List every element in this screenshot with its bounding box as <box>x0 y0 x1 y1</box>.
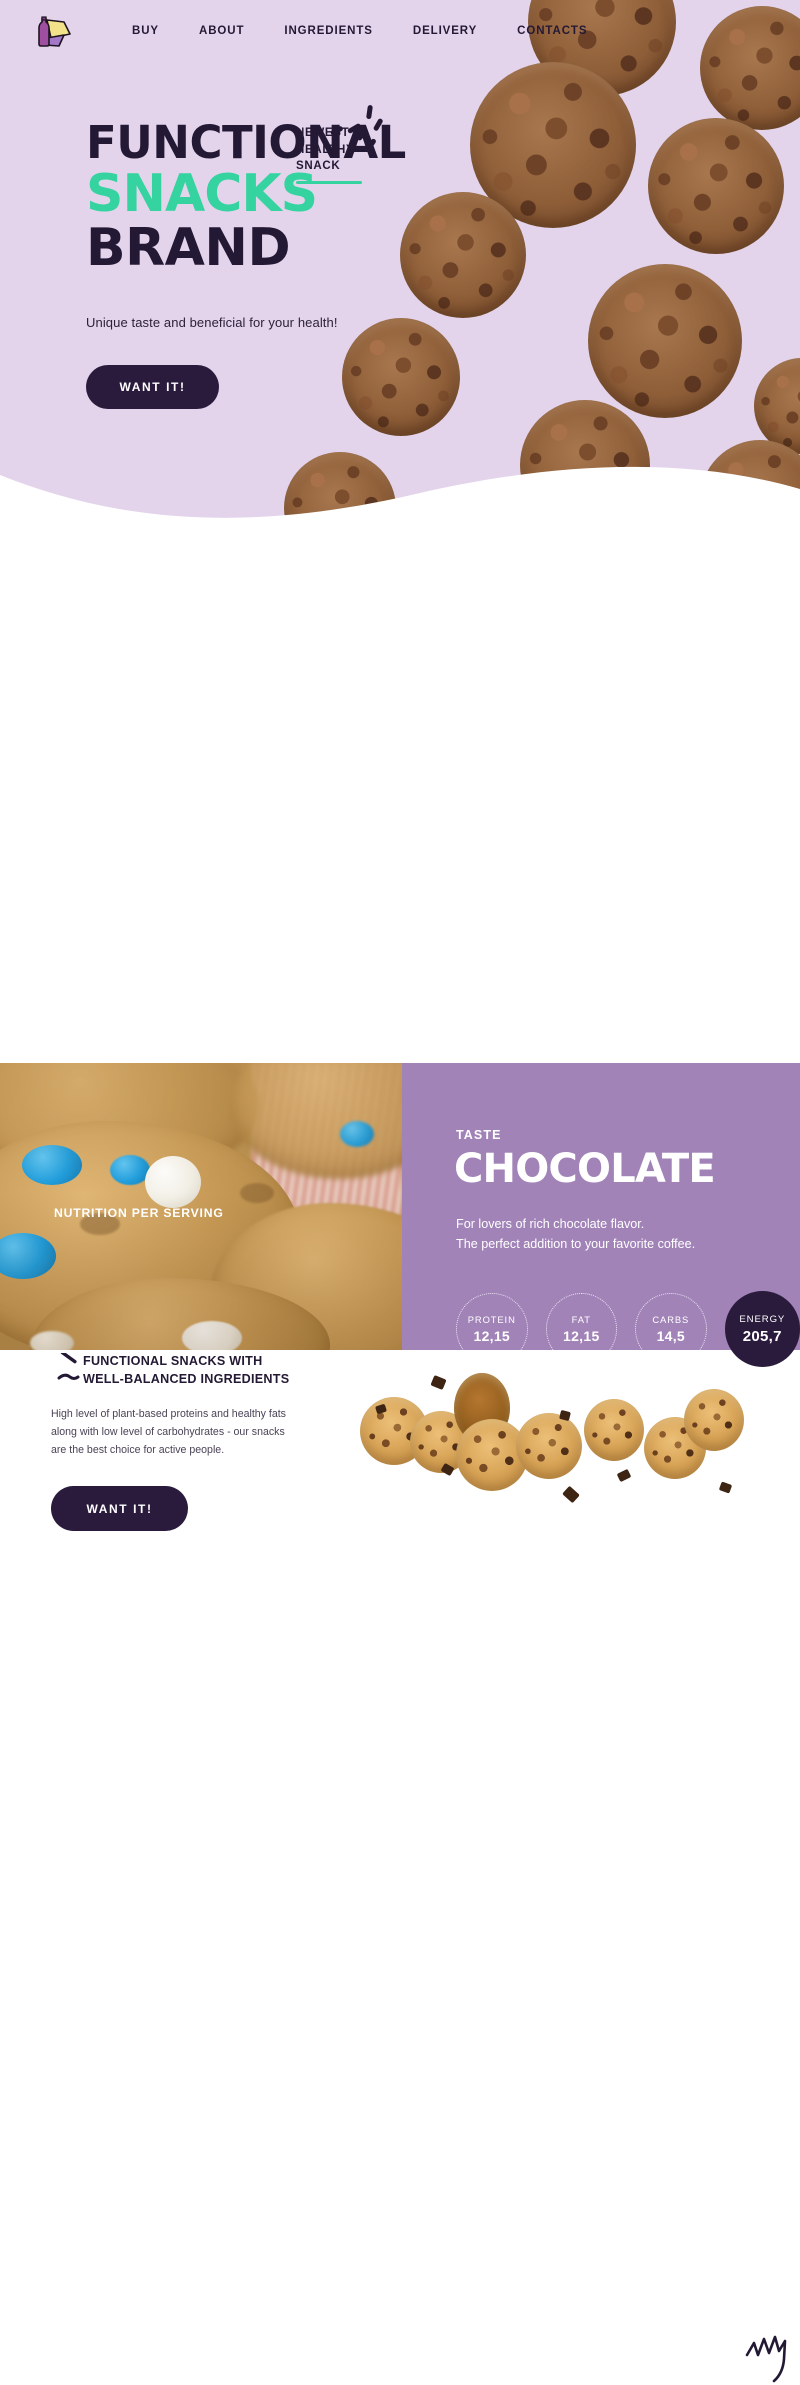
nutrition-circle-carbs: CARBS 14,5 <box>635 1293 707 1365</box>
nutrition-value: 205,7 <box>743 1328 782 1345</box>
nav-item-delivery[interactable]: DELIVERY <box>393 19 497 43</box>
hero-wave-divider <box>0 427 800 535</box>
chocolate-chunk <box>719 1481 732 1493</box>
benefit-subheading: FUNCTIONAL SNACKS WITH WELL-BALANCED ING… <box>83 1353 289 1389</box>
product-title: CHOCOLATE <box>454 1149 715 1189</box>
nav-item-about[interactable]: ABOUT <box>179 19 264 43</box>
chocolate-chunk <box>617 1469 632 1482</box>
hero-badge-line3: SNACK <box>296 158 388 175</box>
cookies-photo <box>356 1371 746 1511</box>
nutrition-circles: PROTEIN 12,15 FAT 12,15 CARBS 14,5 ENERG… <box>456 1293 800 1350</box>
hero-heading: FUNCTIONAL SNACKS BRAND <box>86 120 486 275</box>
tick-marks-icon <box>56 1353 82 1387</box>
nutrition-label: FAT <box>572 1314 591 1325</box>
nav-item-contacts[interactable]: CONTACTS <box>497 19 607 43</box>
nav-item-ingredients[interactable]: INGREDIENTS <box>264 19 393 43</box>
benefit-body: High level of plant-based proteins and h… <box>51 1405 301 1460</box>
benefit-subheading-line2: WELL-BALANCED INGREDIENTS <box>83 1372 289 1386</box>
nutrition-value: 12,15 <box>473 1328 510 1344</box>
hero-title-line2: SNACKS <box>86 168 486 221</box>
nutrition-value: 14,5 <box>657 1328 685 1344</box>
cookie-graphic <box>684 1389 744 1451</box>
hero-cta-button[interactable]: WANT IT! <box>86 365 219 409</box>
squiggle-decoration-icon <box>744 2329 800 2385</box>
cookie-graphic <box>588 264 742 418</box>
hero-badge-underline <box>296 181 362 184</box>
nutrition-label: CARBS <box>652 1314 689 1325</box>
product-description-line1: For lovers of rich chocolate flavor. <box>456 1217 644 1231</box>
nav-item-buy[interactable]: BUY <box>112 19 179 43</box>
chocolate-chunk <box>562 1486 580 1504</box>
nutrition-label: PROTEIN <box>468 1314 516 1325</box>
nutrition-label: ENERGY <box>739 1314 785 1325</box>
hero-badge: NEWEST HEALTHY SNACK <box>296 125 388 184</box>
product-eyebrow: TASTE <box>456 1128 502 1142</box>
hero-badge-line1: NEWEST <box>296 125 388 142</box>
nutrition-value: 12,15 <box>563 1328 600 1344</box>
about-section: WHAT DOES IT MEAN FUNCTIONAL SNACKS? Sna… <box>0 535 800 1055</box>
brand-logo-icon[interactable] <box>34 12 74 50</box>
nutrition-heading: NUTRITION PER SERVING <box>54 1206 224 1220</box>
nutrition-circle-protein: PROTEIN 12,15 <box>456 1293 528 1365</box>
main-nav: BUY ABOUT INGREDIENTS DELIVERY CONTACTS <box>112 19 607 43</box>
benefit-cta-button[interactable]: WANT IT! <box>51 1486 188 1531</box>
nutrition-circle-energy: ENERGY 205,7 <box>725 1291 800 1367</box>
cookie-graphic <box>584 1399 644 1461</box>
cookie-graphic <box>470 62 636 228</box>
hero-section: BUY ABOUT INGREDIENTS DELIVERY CONTACTS … <box>0 0 800 535</box>
cookie-graphic <box>516 1413 582 1479</box>
hero-badge-line2: HEALTHY <box>296 142 388 159</box>
cookie-graphic <box>648 118 784 254</box>
nutrition-circle-fat: FAT 12,15 <box>546 1293 618 1365</box>
hero-title-line3: BRAND <box>86 222 486 275</box>
product-description: For lovers of rich chocolate flavor. The… <box>456 1215 695 1254</box>
product-description-line2: The perfect addition to your favorite co… <box>456 1237 695 1251</box>
benefit-subheading-line1: FUNCTIONAL SNACKS WITH <box>83 1354 262 1368</box>
chocolate-chunk <box>430 1375 446 1390</box>
hero-subtitle: Unique taste and beneficial for your hea… <box>86 315 338 330</box>
site-header: BUY ABOUT INGREDIENTS DELIVERY CONTACTS <box>0 0 800 62</box>
cookie-graphic <box>342 318 460 436</box>
